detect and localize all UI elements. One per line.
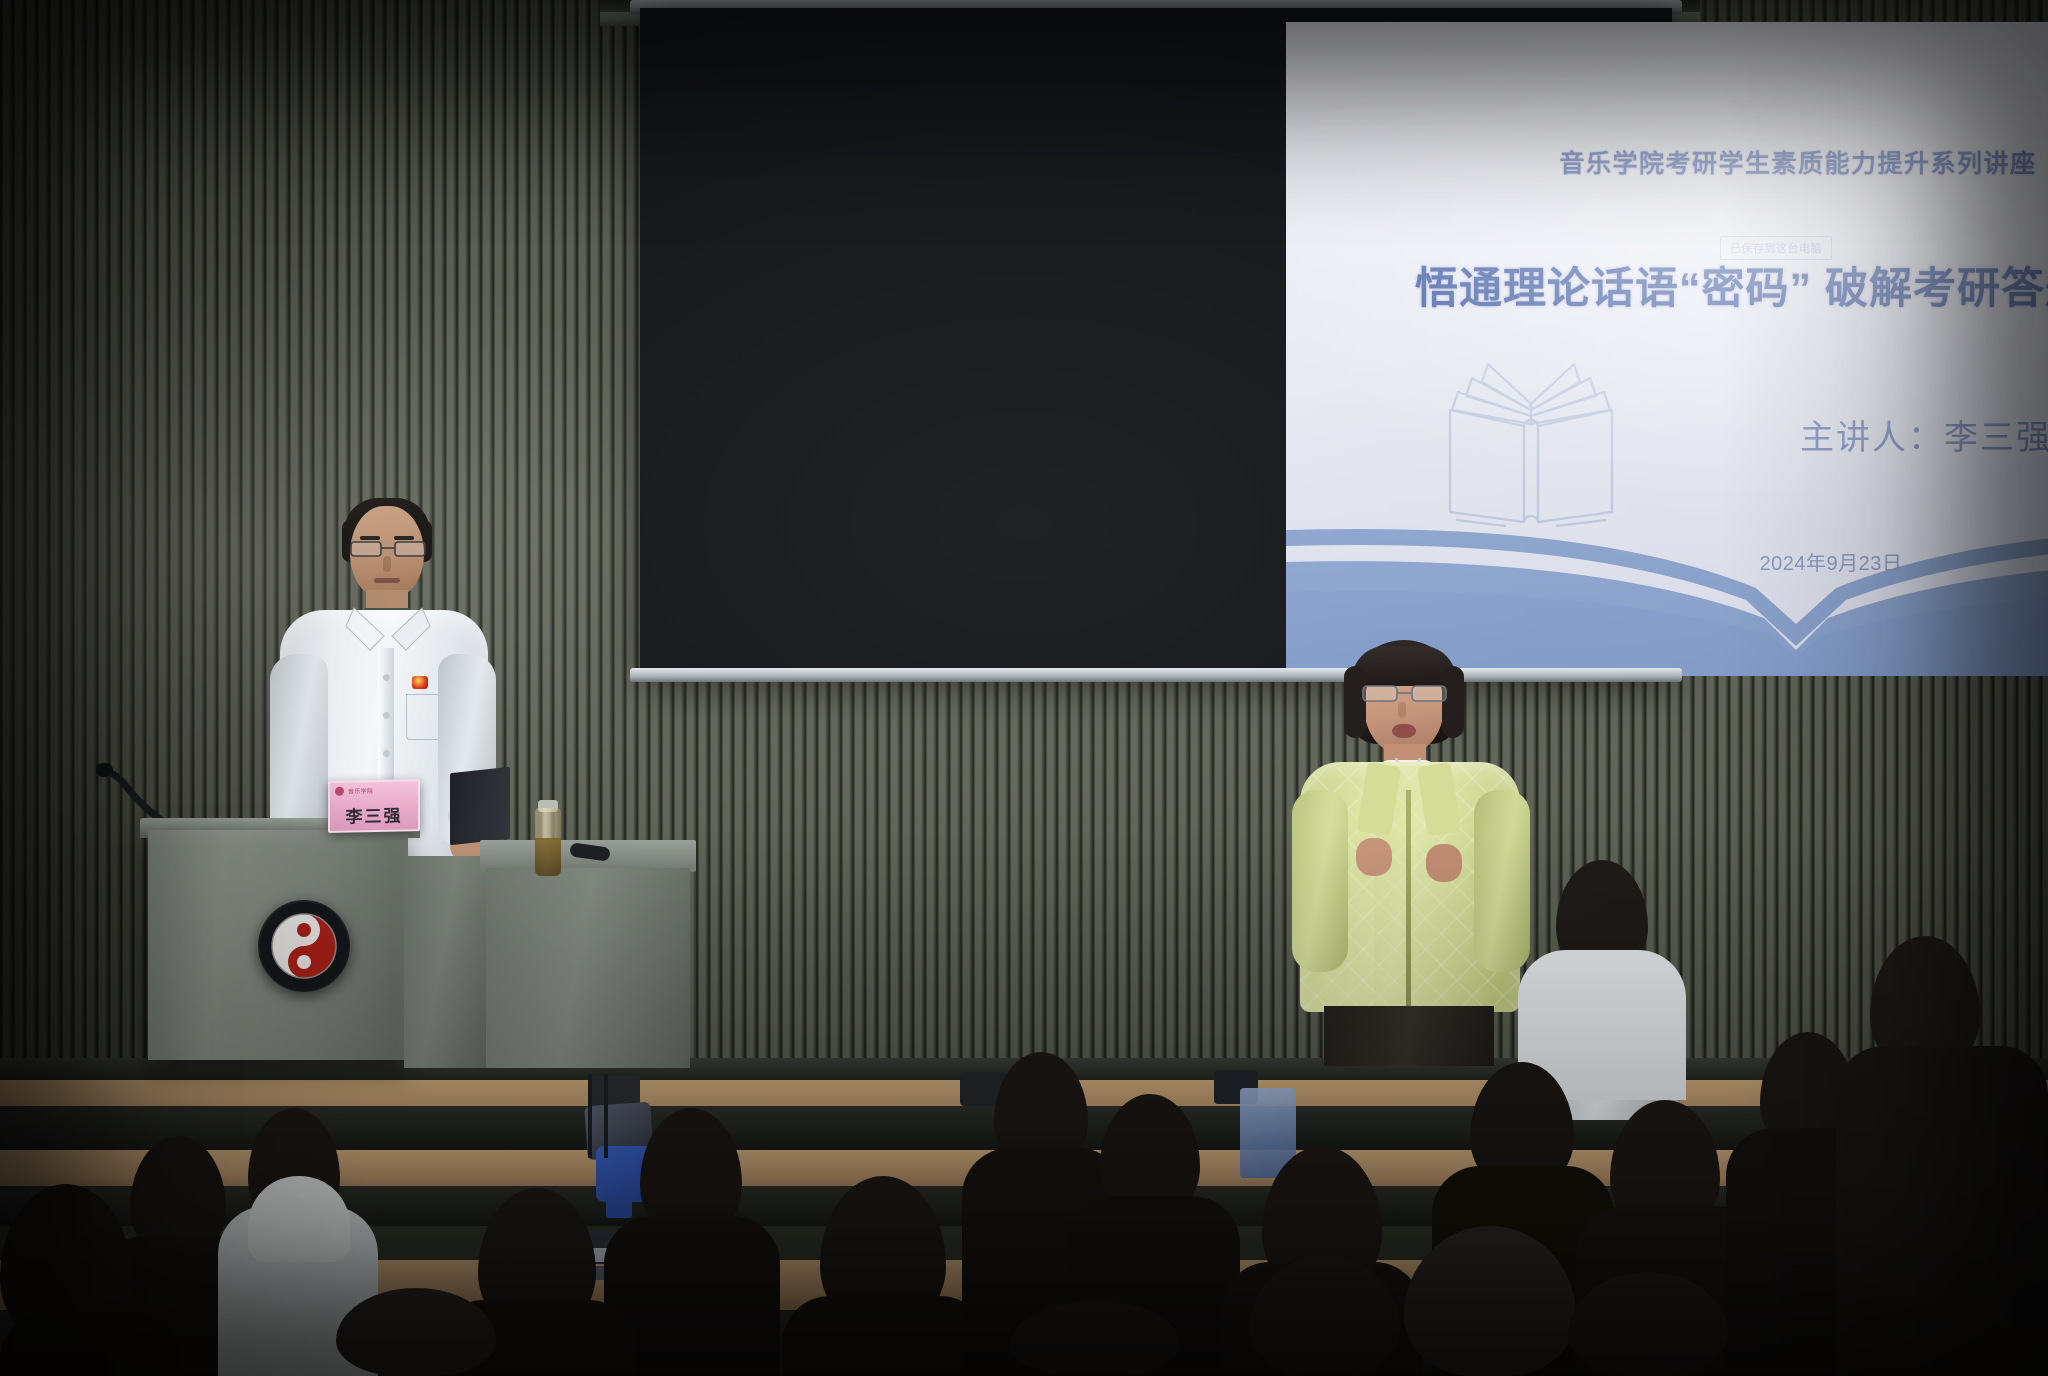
man-shirt-button <box>383 712 390 719</box>
laptop-lid <box>450 767 510 845</box>
man-left-sleeve <box>270 654 328 844</box>
man-shirt-collar <box>340 606 436 654</box>
projection-screen-frame: 音乐学院考研学生素质能力提升系列讲座 已保存到这台电脑 悟通理论话语“密码” 破… <box>640 8 1672 676</box>
woman-nose <box>1398 702 1406 718</box>
audience-shoulders <box>782 1296 988 1376</box>
bottle-liquid <box>535 838 561 876</box>
woman-dark-trousers <box>1324 1006 1494 1066</box>
audience-shoulders <box>0 1312 180 1376</box>
woman-left-hand <box>1356 838 1392 876</box>
slide-main-title: 悟通理论话语“密码” 破解考研答题之难 <box>1300 254 2048 316</box>
lecture-hall-photo: 音乐学院考研学生素质能力提升系列讲座 已保存到这台电脑 悟通理论话语“密码” 破… <box>0 0 2048 1376</box>
man-shirt-button <box>383 674 390 681</box>
slide-date: 2024年9月23日 <box>1616 547 2046 576</box>
jacket-zipper-icon <box>1406 790 1411 1012</box>
woman-right-sleeve <box>1474 790 1530 972</box>
party-emblem-badge-icon <box>412 676 428 689</box>
bag-strap-cord <box>604 1074 608 1158</box>
desk-nameplate: 音乐学院 李三强 <box>328 779 420 833</box>
nameplate-name: 李三强 <box>330 801 418 828</box>
man-mouth <box>374 578 400 583</box>
nameplate-org: 音乐学院 <box>348 786 373 796</box>
slide-presenter-line: 主讲人：李三强 <box>1686 410 2048 459</box>
woman-mouth-speaking <box>1392 724 1416 738</box>
slide-kicker-line: 音乐学院考研学生素质能力提升系列讲座 <box>1338 144 2048 180</box>
woman-hair-fringe <box>1352 646 1456 686</box>
presentation-slide: 音乐学院考研学生素质能力提升系列讲座 已保存到这台电脑 悟通理论话语“密码” 破… <box>1286 22 2048 676</box>
man-nose <box>383 556 391 572</box>
audience-shoulders <box>1836 1046 2048 1376</box>
man-shirt-button <box>383 750 390 757</box>
open-book-outline-icon <box>1436 352 1626 532</box>
blue-bag-strap <box>606 1196 632 1218</box>
bag-strap-cord <box>588 1074 592 1158</box>
person-woman-speaking: LB <box>1290 640 1530 1040</box>
side-table-body <box>486 868 690 1068</box>
woman-right-hand <box>1426 844 1462 882</box>
university-emblem-icon <box>258 900 350 992</box>
eyeglasses-icon <box>1362 684 1448 704</box>
nameplate-logo-icon <box>335 787 344 796</box>
woman-left-sleeve <box>1292 790 1348 972</box>
